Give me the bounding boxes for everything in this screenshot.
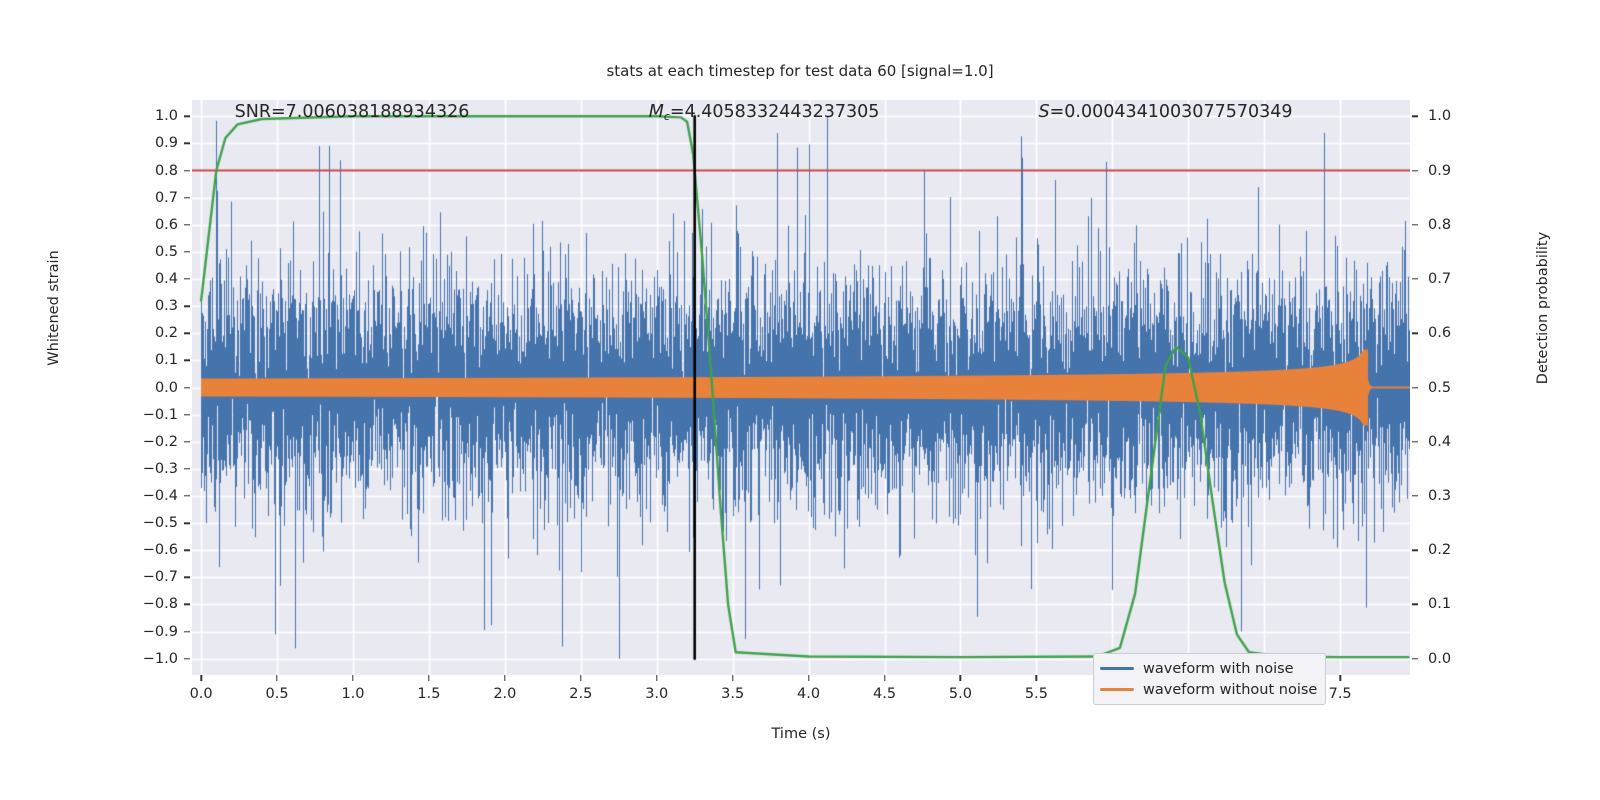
y-tick-left-mark bbox=[184, 604, 190, 605]
y-tick-left-mark bbox=[184, 224, 190, 225]
y-tick-right-mark bbox=[1412, 604, 1418, 605]
x-tick-label: 1.5 bbox=[399, 686, 459, 702]
x-tick-mark bbox=[428, 675, 429, 681]
y-tick-right-mark bbox=[1412, 441, 1418, 442]
x-tick-mark bbox=[580, 675, 581, 681]
y-tick-left-label: −0.5 bbox=[118, 515, 178, 531]
y-tick-left-mark bbox=[184, 305, 190, 306]
x-tick-label: 4.5 bbox=[855, 686, 915, 702]
x-tick-mark bbox=[504, 675, 505, 681]
y-tick-right-label: 0.1 bbox=[1428, 596, 1488, 612]
x-tick-label: 2.5 bbox=[551, 686, 611, 702]
y-tick-right-mark bbox=[1412, 333, 1418, 334]
y-tick-left-label: 0.8 bbox=[118, 163, 178, 179]
y-tick-left-mark bbox=[184, 577, 190, 578]
annotation-snr: SNR=7.006038188934326 bbox=[235, 102, 470, 122]
y-tick-left-mark bbox=[184, 631, 190, 632]
y-tick-left-mark bbox=[184, 522, 190, 523]
y-tick-left-mark bbox=[184, 387, 190, 388]
x-tick-label: 2.0 bbox=[475, 686, 535, 702]
x-tick-mark bbox=[960, 675, 961, 681]
x-tick-label: 0.5 bbox=[247, 686, 307, 702]
y-tick-left-label: 1.0 bbox=[118, 108, 178, 124]
y-tick-left-label: −0.1 bbox=[118, 407, 178, 423]
x-tick-mark bbox=[1036, 675, 1037, 681]
y-tick-right-mark bbox=[1412, 550, 1418, 551]
y-tick-left-label: −0.7 bbox=[118, 569, 178, 585]
y-tick-right-mark bbox=[1412, 387, 1418, 388]
x-tick-mark bbox=[352, 675, 353, 681]
y-tick-right-label: 0.4 bbox=[1428, 434, 1488, 450]
legend-swatch-icon bbox=[1100, 688, 1134, 691]
y-tick-left-mark bbox=[184, 278, 190, 279]
annotation-statistic: S=0.0004341003077570349 bbox=[1039, 102, 1293, 122]
y-tick-left-label: −1.0 bbox=[118, 651, 178, 667]
y-tick-right-label: 0.2 bbox=[1428, 542, 1488, 558]
y-tick-left-label: 0.3 bbox=[118, 298, 178, 314]
figure-canvas: stats at each timestep for test data 60 … bbox=[0, 0, 1600, 800]
annotation-chirp-mass: Mc=4.4058332443237305 bbox=[649, 102, 880, 123]
y-tick-left-mark bbox=[184, 550, 190, 551]
y-tick-right-mark bbox=[1412, 495, 1418, 496]
legend-label: waveform without noise bbox=[1143, 682, 1317, 698]
y-tick-left-mark bbox=[184, 251, 190, 252]
y-tick-left-label: 0.2 bbox=[118, 325, 178, 341]
y-tick-right-mark bbox=[1412, 224, 1418, 225]
x-tick-label: 3.5 bbox=[703, 686, 763, 702]
y-tick-left-mark bbox=[184, 441, 190, 442]
y-tick-right-label: 0.3 bbox=[1428, 488, 1488, 504]
y-tick-left-label: 0.6 bbox=[118, 217, 178, 233]
x-tick-label: 1.0 bbox=[323, 686, 383, 702]
y-tick-right-label: 0.9 bbox=[1428, 163, 1488, 179]
x-tick-label: 5.5 bbox=[1006, 686, 1066, 702]
legend-label: waveform with noise bbox=[1143, 661, 1294, 677]
y-tick-left-mark bbox=[184, 143, 190, 144]
y-tick-left-mark bbox=[184, 116, 190, 117]
y-tick-left-label: −0.8 bbox=[118, 596, 178, 612]
y-axis-left-label: Whitened strain bbox=[46, 58, 62, 558]
y-tick-left-mark bbox=[184, 658, 190, 659]
y-tick-left-label: 0.4 bbox=[118, 271, 178, 287]
legend-swatch-icon bbox=[1100, 667, 1134, 670]
y-tick-right-mark bbox=[1412, 170, 1418, 171]
y-tick-right-mark bbox=[1412, 658, 1418, 659]
y-tick-right-mark bbox=[1412, 278, 1418, 279]
y-tick-right-label: 0.8 bbox=[1428, 217, 1488, 233]
y-tick-right-label: 0.7 bbox=[1428, 271, 1488, 287]
y-tick-right-label: 1.0 bbox=[1428, 108, 1488, 124]
y-tick-right-mark bbox=[1412, 116, 1418, 117]
y-tick-left-label: −0.6 bbox=[118, 542, 178, 558]
x-tick-label: 4.0 bbox=[779, 686, 839, 702]
y-tick-left-mark bbox=[184, 170, 190, 171]
x-tick-mark bbox=[808, 675, 809, 681]
y-tick-left-label: 0.5 bbox=[118, 244, 178, 260]
y-tick-left-mark bbox=[184, 495, 190, 496]
x-tick-mark bbox=[884, 675, 885, 681]
y-tick-left-mark bbox=[184, 360, 190, 361]
y-tick-right-label: 0.0 bbox=[1428, 651, 1488, 667]
y-tick-left-mark bbox=[184, 197, 190, 198]
y-tick-left-mark bbox=[184, 414, 190, 415]
x-axis-label: Time (s) bbox=[192, 726, 1410, 742]
legend-item-0[interactable]: waveform with noise bbox=[1100, 658, 1317, 679]
x-tick-mark bbox=[276, 675, 277, 681]
x-tick-label: 5.0 bbox=[930, 686, 990, 702]
legend-item-1[interactable]: waveform without noise bbox=[1100, 679, 1317, 700]
x-tick-mark bbox=[1339, 675, 1340, 681]
annotation-layer: SNR=7.006038188934326Mc=4.40583324432373… bbox=[192, 100, 1410, 675]
plot-area: SNR=7.006038188934326Mc=4.40583324432373… bbox=[192, 100, 1410, 675]
legend[interactable]: waveform with noisewaveform without nois… bbox=[1093, 653, 1326, 705]
y-tick-left-label: −0.2 bbox=[118, 434, 178, 450]
y-tick-left-label: 0.7 bbox=[118, 190, 178, 206]
chart-title: stats at each timestep for test data 60 … bbox=[0, 62, 1600, 80]
y-tick-right-label: 0.5 bbox=[1428, 380, 1488, 396]
y-tick-left-label: −0.9 bbox=[118, 624, 178, 640]
y-axis-right-label: Detection probability bbox=[1535, 58, 1551, 558]
y-tick-left-label: 0.9 bbox=[118, 135, 178, 151]
y-tick-left-label: −0.4 bbox=[118, 488, 178, 504]
y-tick-left-mark bbox=[184, 468, 190, 469]
y-tick-left-label: 0.1 bbox=[118, 352, 178, 368]
x-tick-label: 3.0 bbox=[627, 686, 687, 702]
x-tick-label: 0.0 bbox=[171, 686, 231, 702]
y-tick-left-mark bbox=[184, 333, 190, 334]
x-tick-mark bbox=[200, 675, 201, 681]
y-tick-left-label: −0.3 bbox=[118, 461, 178, 477]
y-tick-left-label: 0.0 bbox=[118, 380, 178, 396]
x-tick-mark bbox=[656, 675, 657, 681]
x-tick-mark bbox=[732, 675, 733, 681]
y-tick-right-label: 0.6 bbox=[1428, 325, 1488, 341]
